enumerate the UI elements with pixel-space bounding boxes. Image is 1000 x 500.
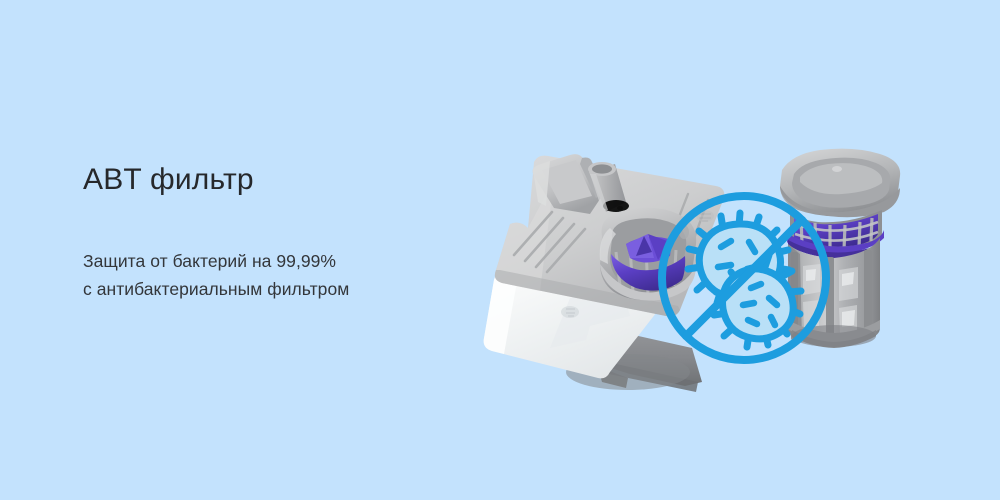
promo-subcopy-line-2: с антибактериальным фильтром <box>83 275 463 303</box>
promo-text-block: ABT фильтр Защита от бактерий на 99,99% … <box>83 163 463 303</box>
page-title: ABT фильтр <box>83 163 463 198</box>
abt-filter-promo-banner: ABT фильтр Защита от бактерий на 99,99% … <box>0 0 1000 500</box>
no-bacteria-badge <box>655 189 833 367</box>
promo-subcopy-line-1: Защита от бактерий на 99,99% <box>83 247 463 275</box>
promo-subcopy: Защита от бактерий на 99,99% с антибакте… <box>83 198 463 304</box>
